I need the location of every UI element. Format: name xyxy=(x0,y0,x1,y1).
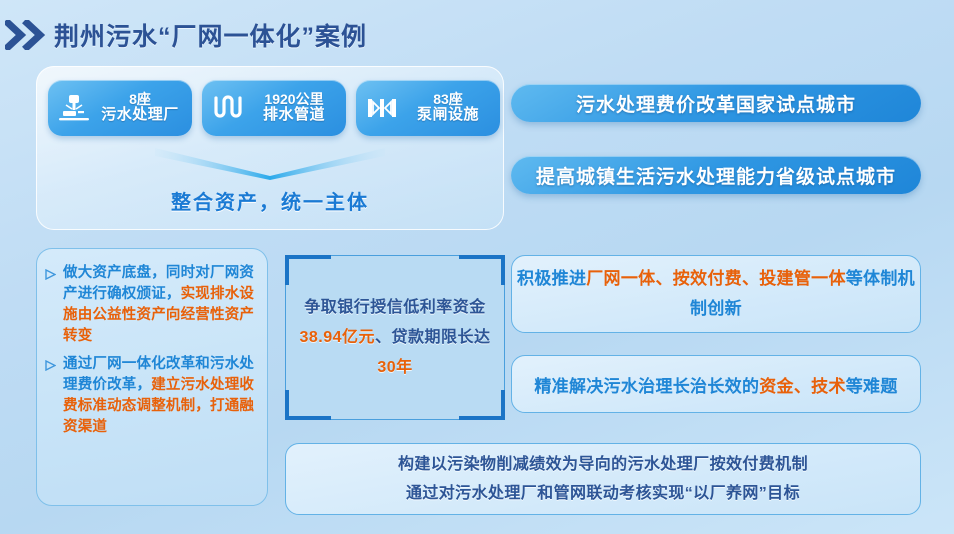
bottom-line-2: 通过对污水处理厂和管网联动考核实现“以厂养网”目标 xyxy=(398,479,808,508)
stat-label: 泵闸设施 xyxy=(400,107,496,124)
corner-accent-left-top xyxy=(285,255,289,285)
corner-accent-right-bottom xyxy=(501,390,505,420)
corner-accent-right-top xyxy=(501,255,505,285)
bank-credit-text: 争取银行授信低利率资金38.94亿元、贷款期限长达30年 xyxy=(286,293,504,383)
info-box-mechanism-innovation: 积极推进厂网一体、按效付费、投建管一体等体制机制创新 xyxy=(511,255,921,333)
double-chevron-right-icon xyxy=(4,15,50,55)
corner-accent-top-right xyxy=(459,255,505,259)
info-plain-1: 积极推进 xyxy=(517,269,586,288)
triangle-bullet-icon xyxy=(45,263,63,347)
page-title: 荆州污水“厂网一体化”案例 xyxy=(54,17,367,53)
bottom-line-1: 构建以污染物削减绩效为导向的污水处理厂按效付费机制 xyxy=(398,450,808,479)
info-box-text: 精准解决污水治理长治长效的资金、技术等难题 xyxy=(534,372,897,397)
assets-summary-panel: 8座 污水处理厂 1920公里 排水管道 xyxy=(36,66,504,230)
corner-accent-bottom-right xyxy=(459,416,505,420)
serpentine-pipe-icon xyxy=(210,90,246,126)
down-arrow-icon xyxy=(155,146,385,185)
info-box-performance-payment: 构建以污染物削减绩效为导向的污水处理厂按效付费机制 通过对污水处理厂和管网联动考… xyxy=(285,443,921,515)
credit-highlight-term: 30年 xyxy=(377,359,412,376)
info-plain-1: 精准解决污水治理长治长效的 xyxy=(534,377,759,396)
stat-card-pump-gate: 83座 泵闸设施 xyxy=(356,80,500,136)
list-item: 通过厂网一体化改革和污水处理费价改革，建立污水处理收费标准动态调整机制，打通融资… xyxy=(45,354,257,438)
slide-header: 荆州污水“厂网一体化”案例 xyxy=(0,12,954,58)
bottom-box-text: 构建以污染物削减绩效为导向的污水处理厂按效付费机制 通过对污水处理厂和管网联动考… xyxy=(398,450,808,508)
stat-card-text: 83座 泵闸设施 xyxy=(400,92,500,124)
merge-statement: 整合资产，统一主体 xyxy=(36,186,504,215)
stat-card-treatment-plant: 8座 污水处理厂 xyxy=(48,80,192,136)
corner-accent-bottom-left xyxy=(285,416,331,420)
list-item-text: 通过厂网一体化改革和污水处理费价改革，建立污水处理收费标准动态调整机制，打通融资… xyxy=(63,354,257,438)
corner-accent-left-bottom xyxy=(285,390,289,420)
stat-card-drainage-pipe: 1920公里 排水管道 xyxy=(202,80,346,136)
corner-accent-top-left xyxy=(285,255,331,259)
badge-national-pilot-city: 污水处理费价改革国家试点城市 xyxy=(511,84,921,122)
stat-card-row: 8座 污水处理厂 1920公里 排水管道 xyxy=(48,80,500,136)
reform-bullet-panel: 做大资产底盘，同时对厂网资产进行确权颁证，实现排水设施由公益性资产向经营性资产转… xyxy=(36,248,268,506)
badge-provincial-pilot-city: 提高城镇生活污水处理能力省级试点城市 xyxy=(511,156,921,194)
credit-highlight-amount: 38.94亿元 xyxy=(299,329,375,346)
list-item: 做大资产底盘，同时对厂网资产进行确权颁证，实现排水设施由公益性资产向经营性资产转… xyxy=(45,263,257,347)
stat-card-text: 1920公里 排水管道 xyxy=(246,92,346,124)
stat-label: 排水管道 xyxy=(246,107,342,124)
credit-plain-1: 争取银行授信低利率资金 xyxy=(304,299,486,316)
slide-root: 荆州污水“厂网一体化”案例 8座 xyxy=(0,0,954,534)
bank-credit-box: 争取银行授信低利率资金38.94亿元、贷款期限长达30年 xyxy=(285,255,505,420)
credit-plain-2: 、贷款期限长达 xyxy=(375,329,491,346)
stat-label: 污水处理厂 xyxy=(92,107,188,124)
pump-gate-valve-icon xyxy=(364,90,400,126)
treatment-plant-icon xyxy=(56,90,92,126)
triangle-bullet-icon xyxy=(45,354,63,438)
stat-card-text: 8座 污水处理厂 xyxy=(92,92,192,124)
info-box-text: 积极推进厂网一体、按效付费、投建管一体等体制机制创新 xyxy=(512,264,920,324)
info-plain-2: 等难题 xyxy=(846,377,898,396)
info-highlight: 厂网一体、按效付费、投建管一体 xyxy=(586,269,846,288)
info-highlight: 资金、技术 xyxy=(759,377,846,396)
list-item-text: 做大资产底盘，同时对厂网资产进行确权颁证，实现排水设施由公益性资产向经营性资产转… xyxy=(63,263,257,347)
info-box-funding-technology: 精准解决污水治理长治长效的资金、技术等难题 xyxy=(511,355,921,413)
